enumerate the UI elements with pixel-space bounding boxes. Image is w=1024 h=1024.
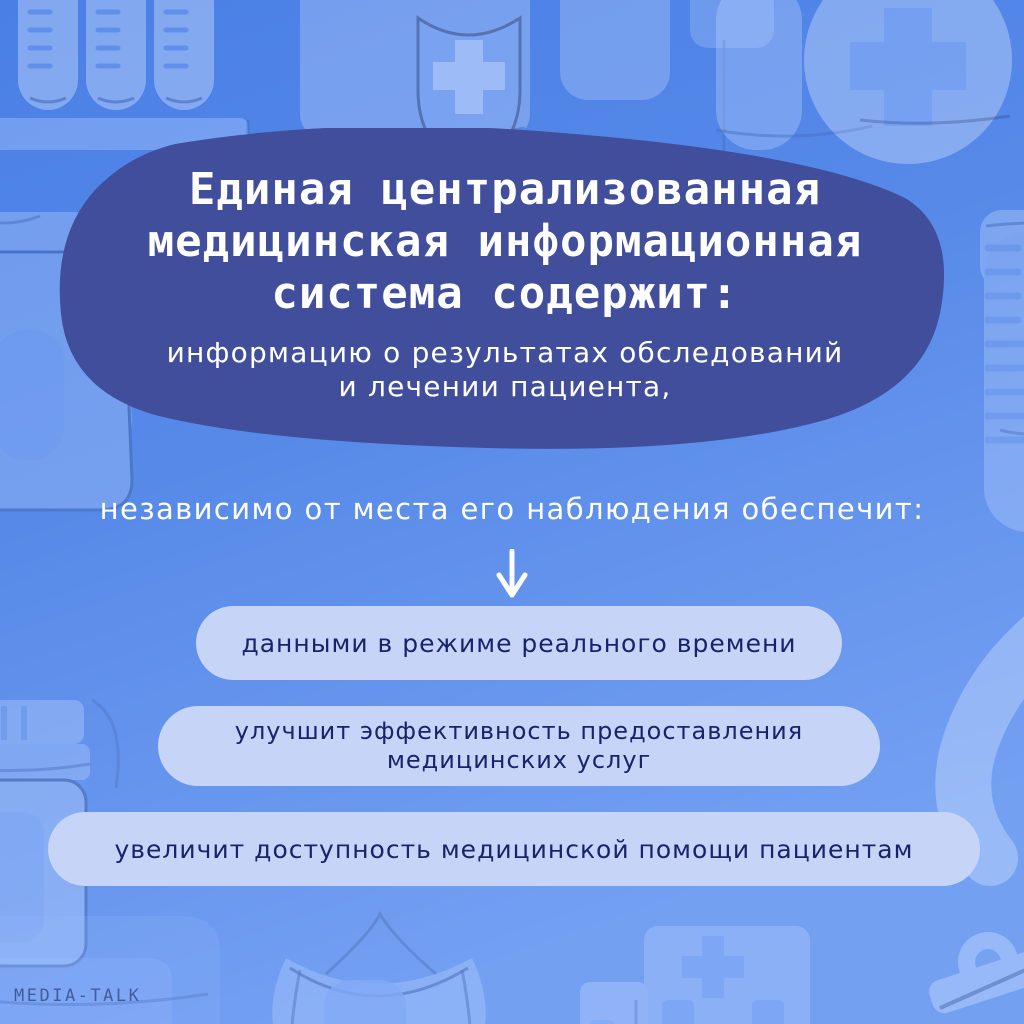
benefit-pill-3-label: увеличит доступность медицинской помощи … (89, 835, 940, 864)
benefit-pill-3[interactable]: увеличит доступность медицинской помощи … (48, 812, 980, 886)
medical-bag-icon (0, 916, 220, 1024)
test-tube-icon (980, 210, 1024, 532)
benefit-pill-2[interactable]: улучшит эффективность предоставления мед… (158, 706, 880, 786)
subtitle-line-1: информацию о результатах обследований (105, 336, 905, 370)
benefit-pill-2-line-1: улучшит эффективность предоставления (235, 717, 803, 746)
lead-text: независимо от места его наблюдения обесп… (0, 492, 1024, 526)
watermark: MEDIA-TALK (14, 986, 141, 1006)
benefit-pill-1-label: данными в режиме реального времени (215, 629, 822, 658)
subtitle-line-2: и лечении пациента, (105, 370, 905, 404)
title-line-1: Единая централизованная (90, 164, 920, 216)
benefit-pill-2-line-2: медицинских услуг (235, 746, 803, 775)
benefit-pill-1[interactable]: данными в режиме реального времени (196, 606, 842, 680)
title-line-2: медицинская информационная (90, 216, 920, 268)
headline-blob: Единая централизованная медицинская инфо… (55, 128, 955, 458)
infographic-poster: Единая централизованная медицинская инфо… (0, 0, 1024, 1024)
subtitle: информацию о результатах обследований и … (105, 336, 905, 404)
title-line-3: система содержит: (90, 268, 920, 320)
benefit-pill-2-label: улучшит эффективность предоставления мед… (209, 717, 829, 775)
page-title: Единая централизованная медицинская инфо… (90, 164, 920, 320)
down-arrow-icon (486, 549, 538, 599)
